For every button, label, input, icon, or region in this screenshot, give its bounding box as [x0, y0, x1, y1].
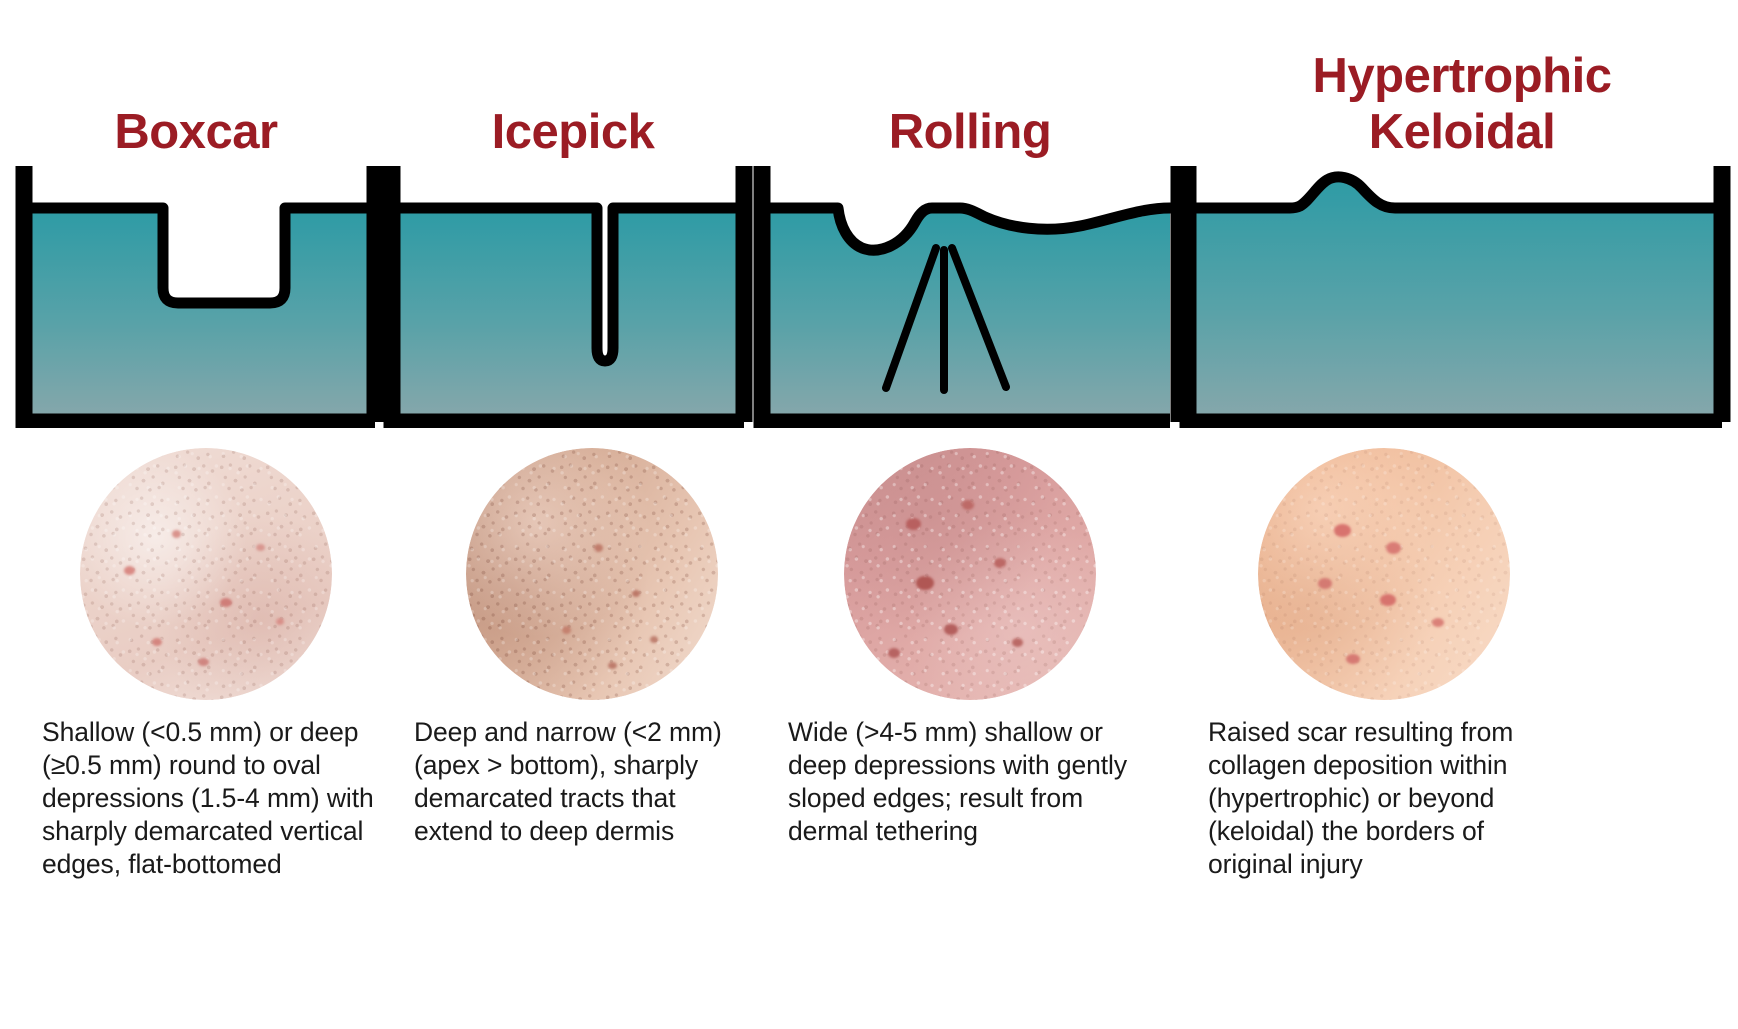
caption-rolling: Wide (>4-5 mm) shallow or deep depressio… [788, 716, 1148, 848]
panel-title-hypertrophic-line2: Keloidal [1186, 104, 1738, 160]
lesion-spots-rolling [844, 448, 1096, 700]
lesion-spots-icepick [466, 448, 718, 700]
clinical-photos-row [0, 448, 1738, 700]
cross-section-icepick [392, 166, 744, 422]
clinical-photo-icepick [466, 448, 718, 700]
panel-titles-row: Boxcar Icepick Rolling Hypertrophic Kelo… [0, 0, 1738, 160]
clinical-photo-rolling [844, 448, 1096, 700]
skin-cross-section-diagram [0, 160, 1738, 428]
panel-title-rolling-text: Rolling [889, 105, 1052, 159]
panel-title-rolling: Rolling [754, 104, 1186, 160]
lesion-spots-keloidal [1258, 448, 1510, 700]
panel-title-icepick: Icepick [392, 104, 754, 160]
cross-section-rolling [762, 166, 1179, 422]
panel-title-boxcar: Boxcar [0, 104, 392, 160]
clinical-photo-hypertrophic-keloidal [1258, 448, 1510, 700]
clinical-photo-boxcar [80, 448, 332, 700]
dermis-fill-boxcar [24, 208, 375, 416]
panel-title-boxcar-text: Boxcar [114, 105, 277, 159]
caption-icepick: Deep and narrow (<2 mm) (apex > bottom),… [414, 716, 744, 848]
cross-section-boxcar [24, 166, 375, 422]
panel-title-hypertrophic-line1: Hypertrophic [1186, 48, 1738, 104]
lesion-spots-boxcar [80, 448, 332, 700]
cross-section-hypertrophic-keloidal [1188, 166, 1722, 422]
caption-boxcar: Shallow (<0.5 mm) or deep (≥0.5 mm) roun… [42, 716, 382, 881]
caption-hypertrophic-keloidal: Raised scar resulting from collagen depo… [1208, 716, 1538, 881]
skin-surface-keloidal [1188, 177, 1722, 208]
panel-title-hypertrophic-keloidal: Hypertrophic Keloidal [1186, 48, 1738, 160]
panel-title-icepick-text: Icepick [492, 105, 655, 159]
dermis-fill-rolling [762, 208, 1170, 416]
dermis-fill-icepick [392, 208, 744, 416]
